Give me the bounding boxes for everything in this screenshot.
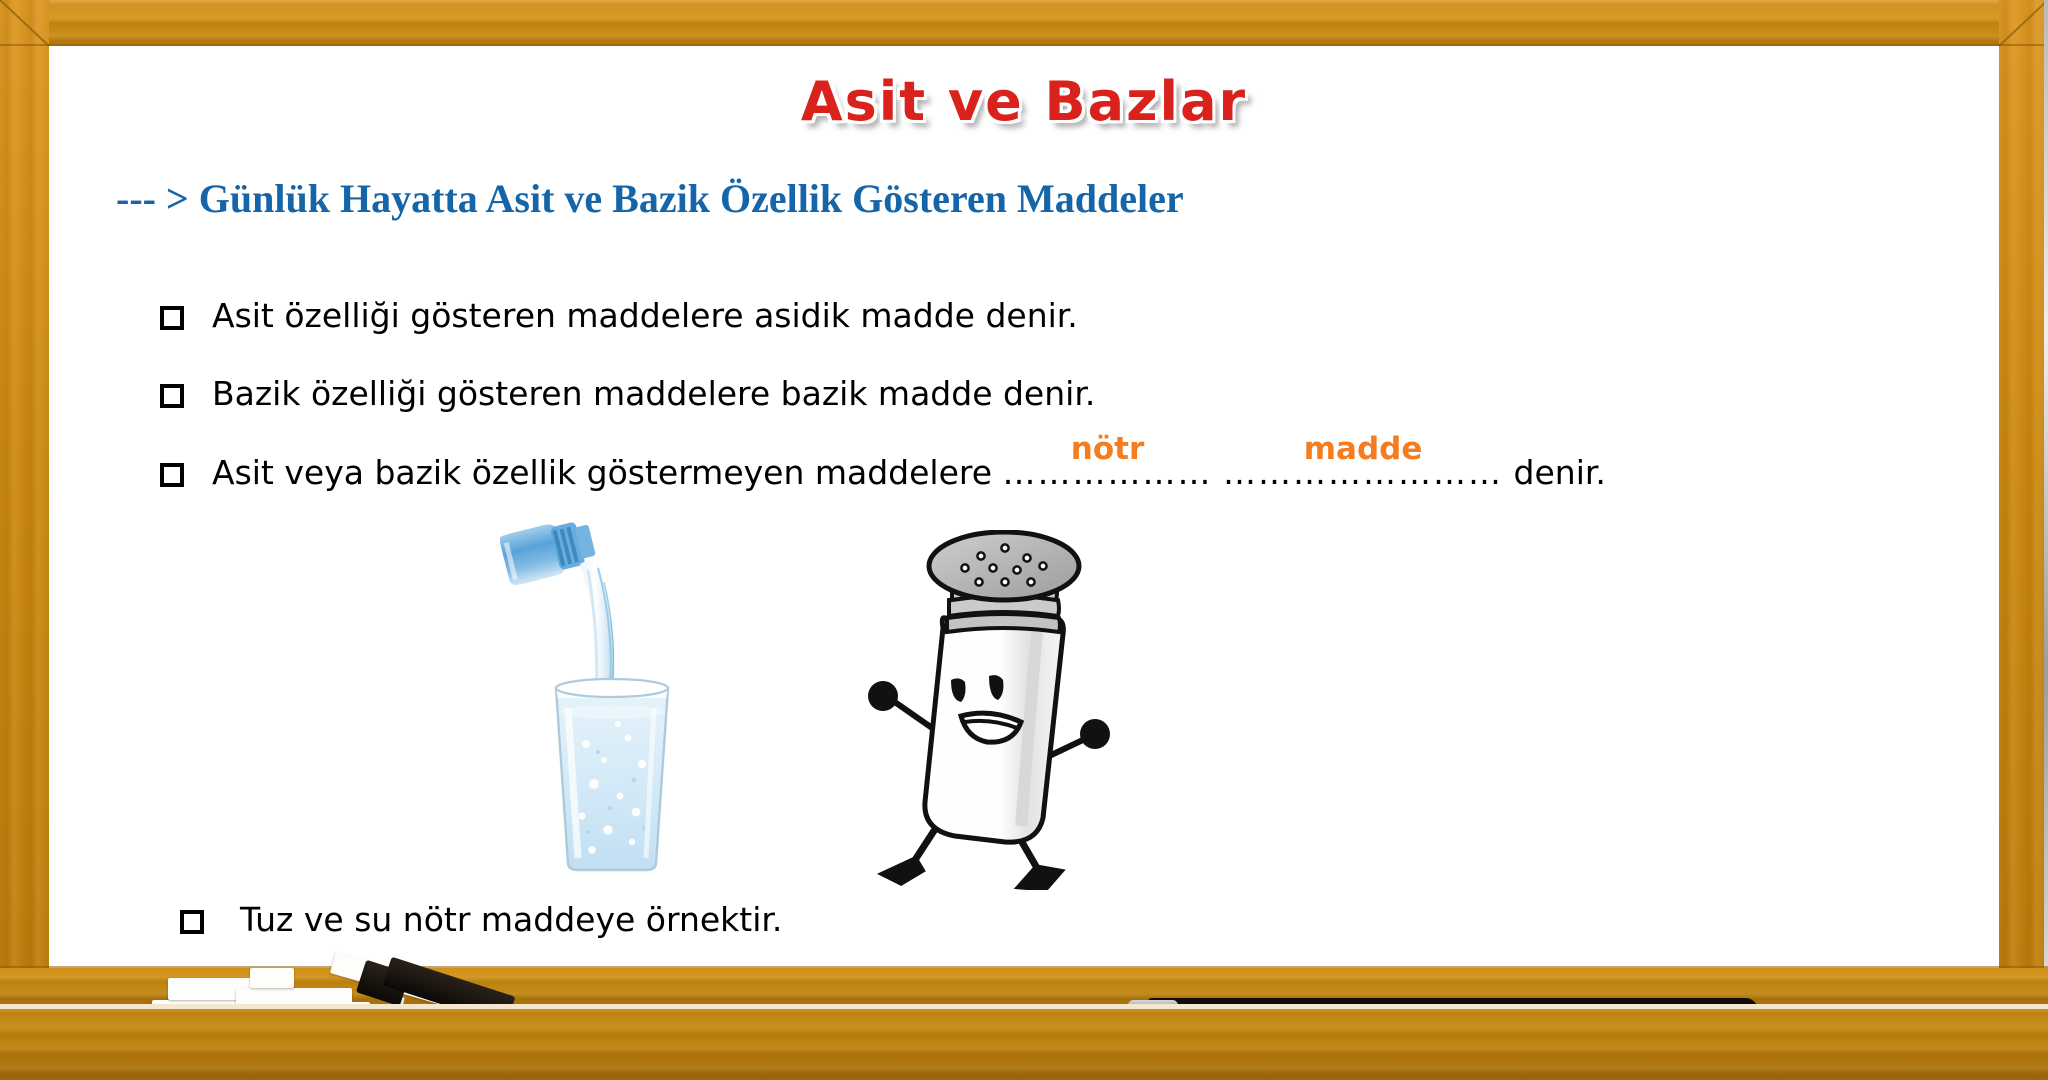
frame-right-edge-highlight bbox=[2044, 0, 2048, 1006]
fill-blank-prompt: Asit veya bazik özellik göstermeyen madd… bbox=[212, 453, 992, 492]
bullet-text-ornek: Tuz ve su nötr maddeye örnektir. bbox=[240, 900, 782, 940]
chalk-piece bbox=[250, 968, 294, 988]
subtitle-arrow-prefix: --- > bbox=[116, 176, 189, 221]
bullet-text-notr: Asit veya bazik özellik göstermeyen madd… bbox=[212, 453, 1606, 493]
chalk-ledge bbox=[0, 1009, 2048, 1080]
water-pouring-illustration bbox=[500, 512, 700, 872]
whiteboard-slide: Asit ve Bazlar --- > Günlük Hayatta Asit… bbox=[0, 0, 2048, 1080]
hollow-square-bullet-icon bbox=[160, 384, 184, 408]
fill-blank-1[interactable]: ……………… nötr bbox=[1003, 453, 1213, 493]
hollow-square-bullet-icon bbox=[160, 306, 184, 330]
list-item: Tuz ve su nötr maddeye örnektir. bbox=[180, 900, 782, 940]
frame-right bbox=[1999, 0, 2048, 1002]
glass-icon bbox=[556, 679, 668, 870]
subtitle-heading: --- > Günlük Hayatta Asit ve Bazik Özell… bbox=[116, 175, 1184, 222]
fill-blank-suffix: denir. bbox=[1514, 453, 1606, 492]
salt-shaker-character bbox=[855, 530, 1125, 890]
list-item: Asit veya bazik özellik göstermeyen madd… bbox=[160, 453, 1860, 493]
bullet-text-asidik: Asit özelliği gösteren maddelere asidik … bbox=[212, 296, 1078, 336]
answer-notr: nötr bbox=[1003, 431, 1213, 469]
list-item: Asit özelliği gösteren maddelere asidik … bbox=[160, 296, 1860, 336]
page-title: Asit ve Bazlar bbox=[0, 70, 2048, 133]
answer-madde: madde bbox=[1223, 431, 1503, 469]
bullet-text-bazik: Bazik özelliği gösteren maddelere bazik … bbox=[212, 374, 1095, 414]
water-pouring-image bbox=[500, 512, 700, 872]
hollow-square-bullet-icon bbox=[180, 910, 204, 934]
subtitle-text: Günlük Hayatta Asit ve Bazik Özellik Gös… bbox=[199, 176, 1184, 221]
fill-blank-2[interactable]: …………………… madde bbox=[1223, 453, 1503, 493]
salt-shaker-illustration bbox=[855, 530, 1125, 890]
bullet-list: Asit özelliği gösteren maddelere asidik … bbox=[160, 296, 1860, 531]
hollow-square-bullet-icon bbox=[160, 463, 184, 487]
shaker-cap bbox=[929, 532, 1079, 600]
list-item: Bazik özelliği gösteren maddelere bazik … bbox=[160, 374, 1860, 414]
bottle-icon bbox=[500, 515, 598, 587]
frame-left bbox=[0, 0, 49, 1002]
